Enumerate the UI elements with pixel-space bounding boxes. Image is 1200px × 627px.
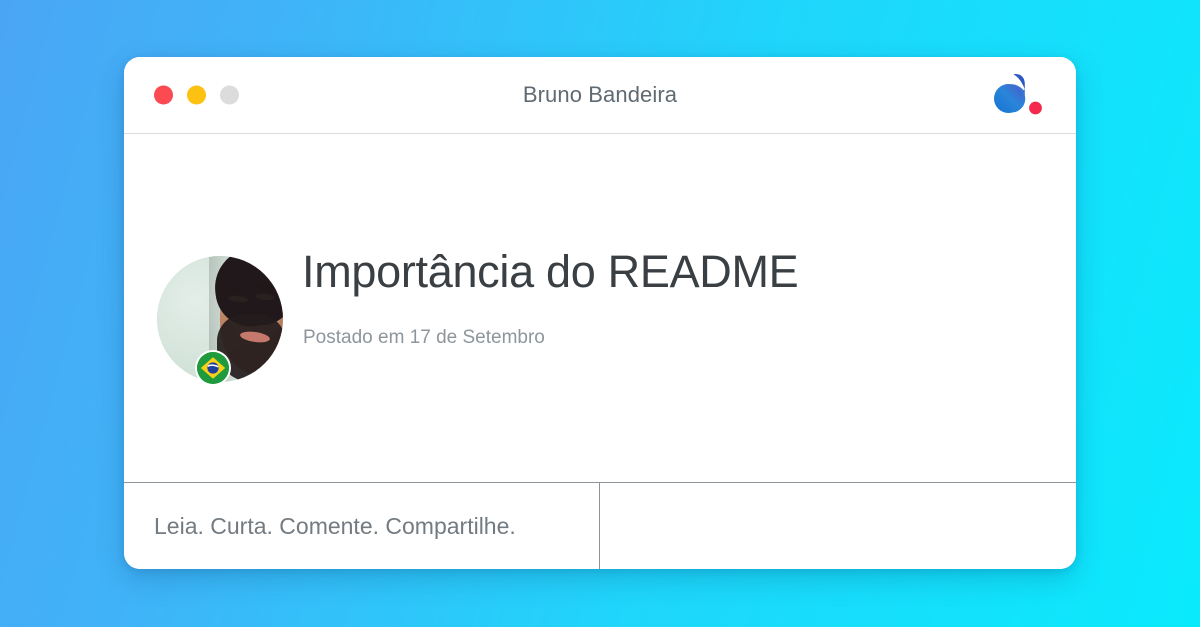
card-footer: Leia. Curta. Comente. Compartilhe. [124, 483, 1076, 569]
footer-right-cell [600, 483, 1076, 569]
page-background: Bruno Bandeira [0, 0, 1200, 627]
window-title-bar: Bruno Bandeira [124, 57, 1076, 134]
post-date: Postado em 17 de Setembro [303, 327, 545, 349]
post-body: Importância do README Postado em 17 de S… [124, 134, 1076, 483]
avatar[interactable] [157, 256, 283, 382]
page-title: Importância do README [302, 246, 798, 298]
window-title: Bruno Bandeira [124, 82, 1076, 108]
brazil-flag-badge-icon [197, 352, 229, 384]
browser-window-card: Bruno Bandeira [124, 57, 1076, 569]
footer-left-cell: Leia. Curta. Comente. Compartilhe. [124, 483, 600, 569]
brand-droplet-logo-icon[interactable] [992, 71, 1052, 119]
footer-tagline: Leia. Curta. Comente. Compartilhe. [154, 513, 516, 540]
